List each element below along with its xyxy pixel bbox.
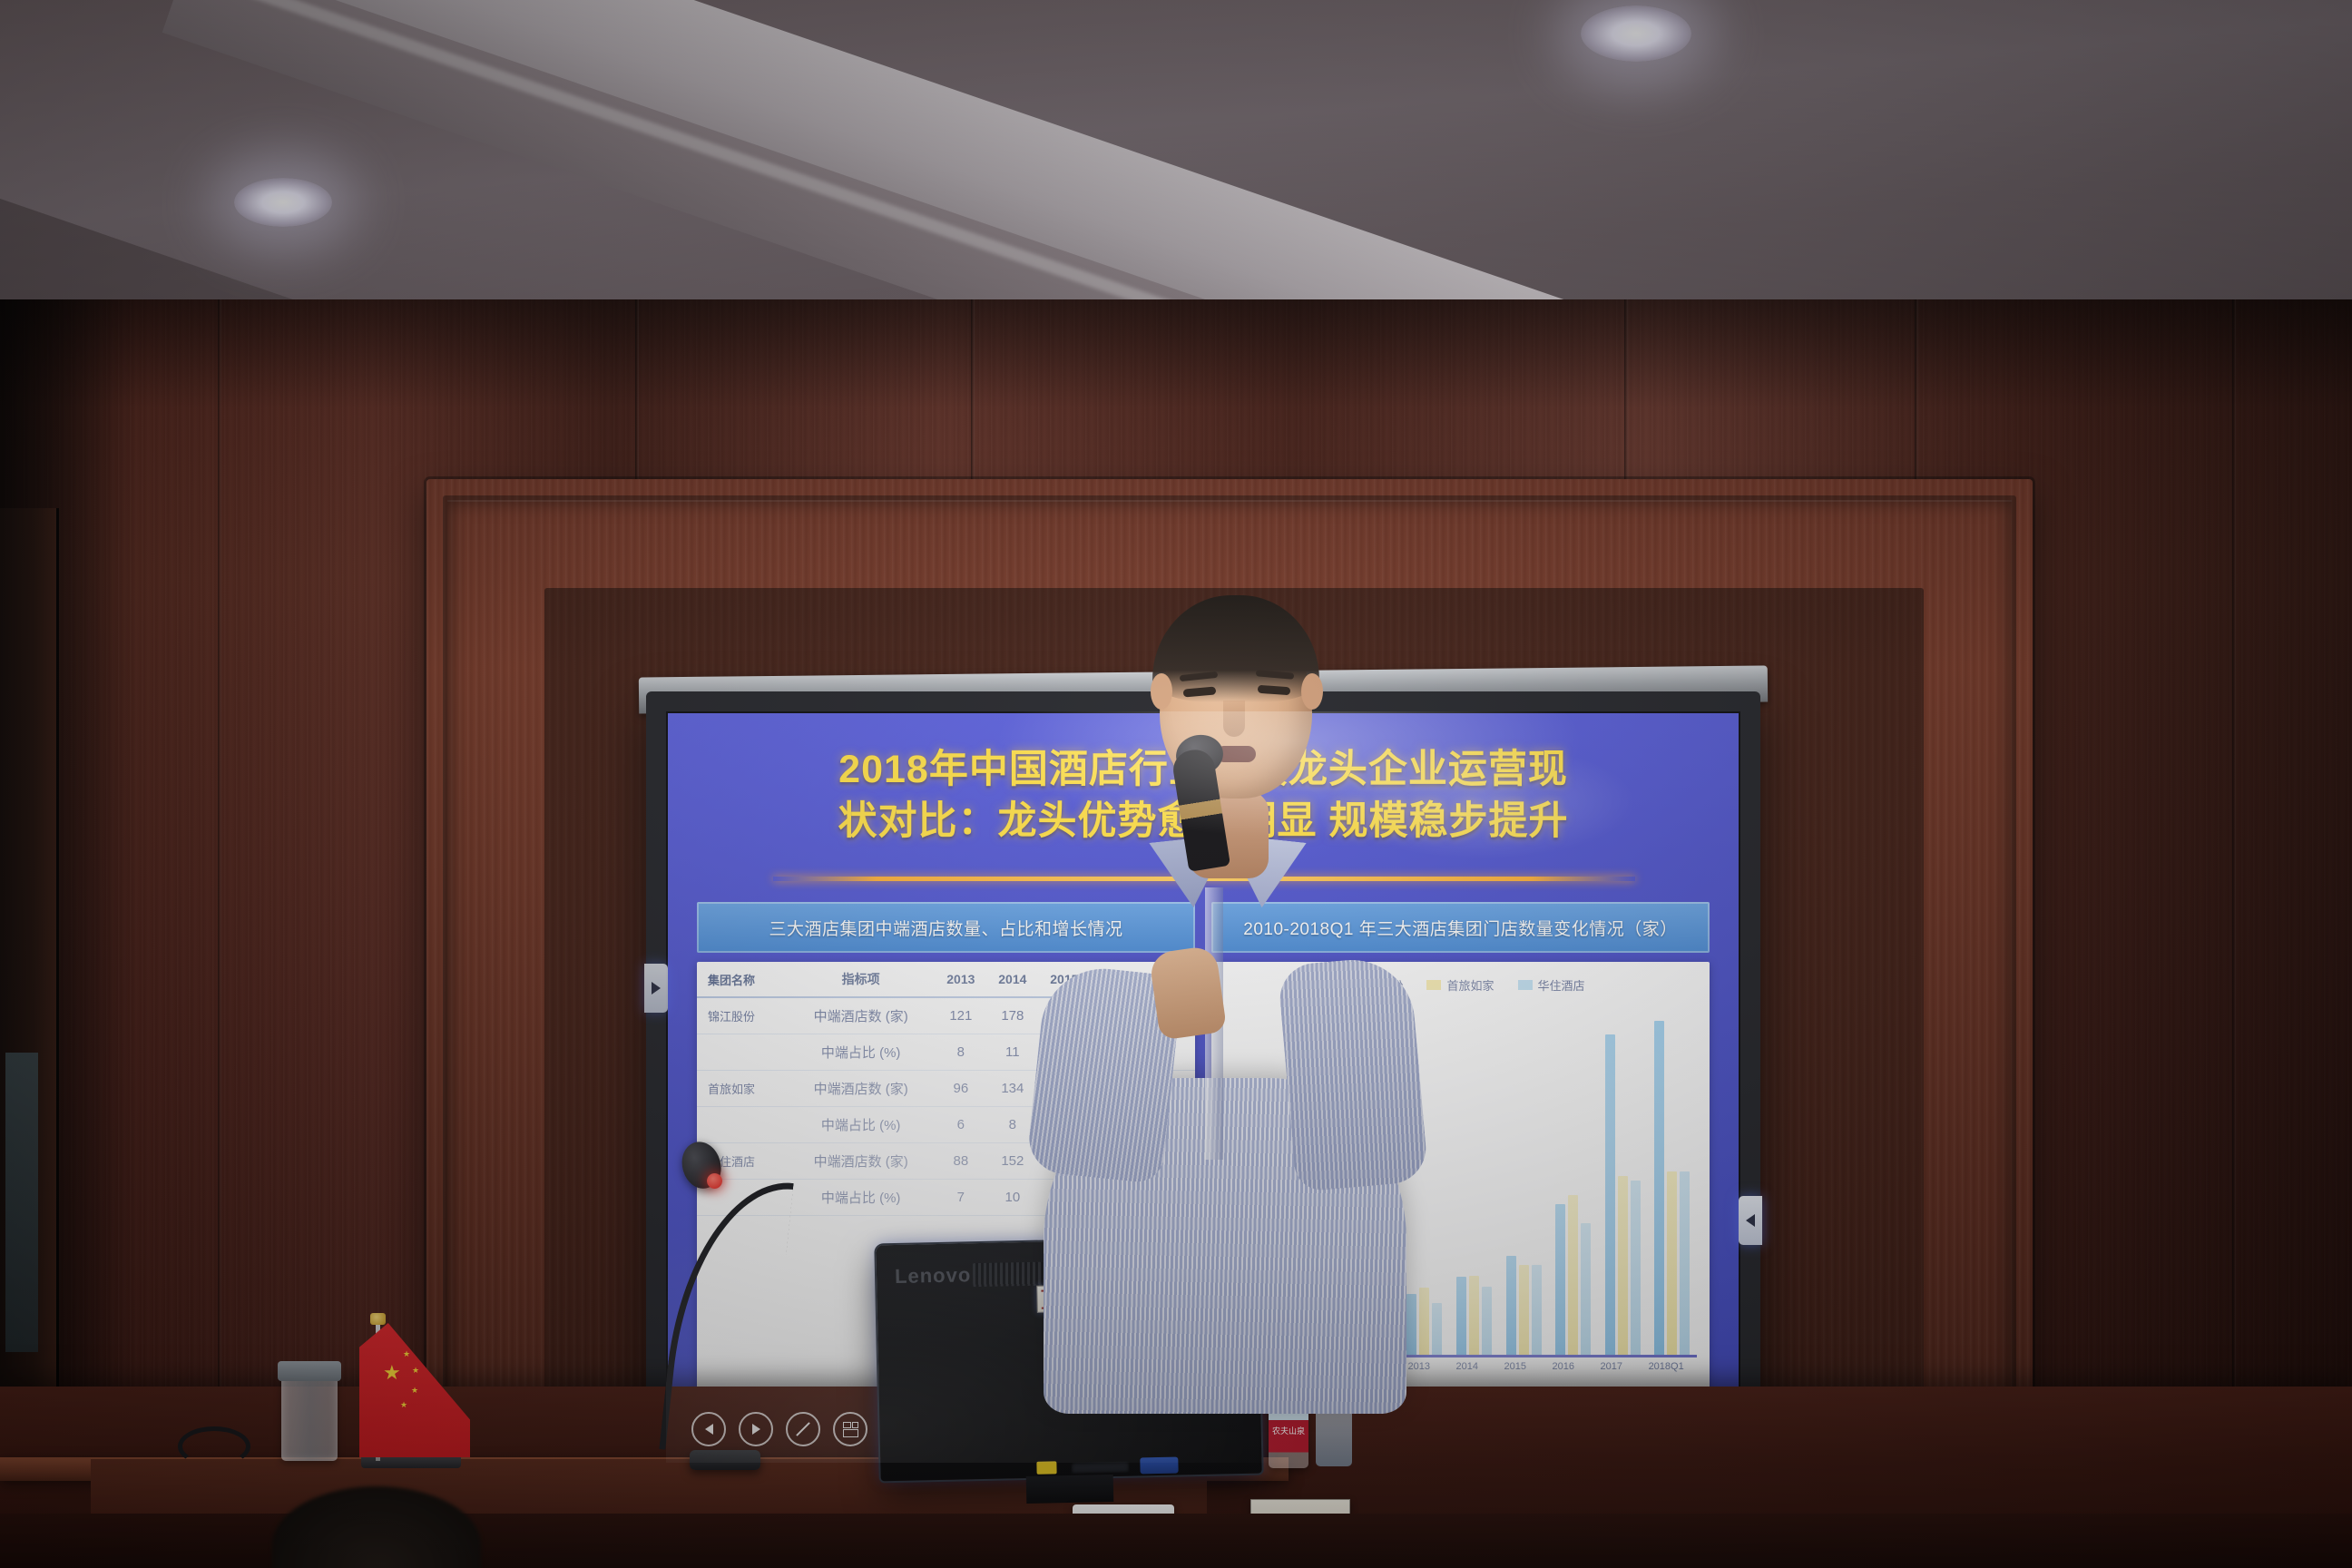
presenter-nose bbox=[1223, 701, 1245, 737]
presenter-hand bbox=[1149, 945, 1228, 1040]
prev-slide-control[interactable] bbox=[691, 1412, 726, 1446]
flag-star-large: ★ bbox=[383, 1363, 401, 1383]
flag-star-small: ★ bbox=[403, 1350, 410, 1358]
monitor-port bbox=[1071, 1462, 1129, 1474]
monitor-stand bbox=[1026, 1475, 1114, 1504]
microphone-led-indicator bbox=[707, 1173, 722, 1189]
wall-panel-seam bbox=[218, 299, 221, 1568]
flag-finial bbox=[370, 1313, 386, 1325]
warning-label-icon bbox=[1036, 1461, 1056, 1474]
monitor-vga-connector bbox=[1140, 1457, 1178, 1475]
panel-collapse-tab-left[interactable] bbox=[644, 964, 668, 1013]
play-icon bbox=[752, 1424, 760, 1435]
pen-icon bbox=[796, 1422, 810, 1436]
slide-control-bar[interactable] bbox=[691, 1412, 867, 1446]
panel-collapse-tab-right[interactable] bbox=[1739, 1196, 1762, 1245]
presenter-left-arm bbox=[1277, 955, 1428, 1192]
presenter-ear-left bbox=[1151, 673, 1172, 710]
flag-star-small: ★ bbox=[400, 1401, 407, 1409]
chevron-left-icon bbox=[1746, 1214, 1755, 1227]
grid-icon bbox=[843, 1422, 858, 1436]
glass-lid bbox=[278, 1361, 341, 1381]
annotate-pen-control[interactable] bbox=[786, 1412, 820, 1446]
door-glass-pane bbox=[5, 1053, 38, 1352]
presenter bbox=[1044, 833, 1406, 1414]
drinking-glass[interactable] bbox=[281, 1372, 338, 1461]
flag-star-small: ★ bbox=[412, 1367, 419, 1375]
wall-top-shadow bbox=[0, 299, 2352, 408]
ceiling-downlight-right bbox=[1581, 5, 1691, 62]
ceiling-downlight-left bbox=[234, 178, 332, 227]
slide-grid-control[interactable] bbox=[833, 1412, 867, 1446]
door-reveal[interactable] bbox=[0, 508, 59, 1524]
bottle-brand-label: 农夫山泉 bbox=[1270, 1421, 1307, 1441]
monitor-brand-label: Lenovo bbox=[895, 1263, 972, 1289]
conference-room-photo: 2018年中国酒店行业三大龙头企业运营现 状对比：龙头优势愈发明显 规模稳步提升… bbox=[0, 0, 2352, 1568]
chevron-right-icon bbox=[652, 982, 661, 995]
presenter-ear-right bbox=[1301, 673, 1323, 710]
flag-star-small: ★ bbox=[411, 1387, 418, 1395]
wall-panel-seam bbox=[2232, 299, 2236, 1568]
microphone-cable bbox=[178, 1426, 250, 1466]
chevron-left-icon bbox=[705, 1424, 713, 1435]
next-slide-control[interactable] bbox=[739, 1412, 773, 1446]
